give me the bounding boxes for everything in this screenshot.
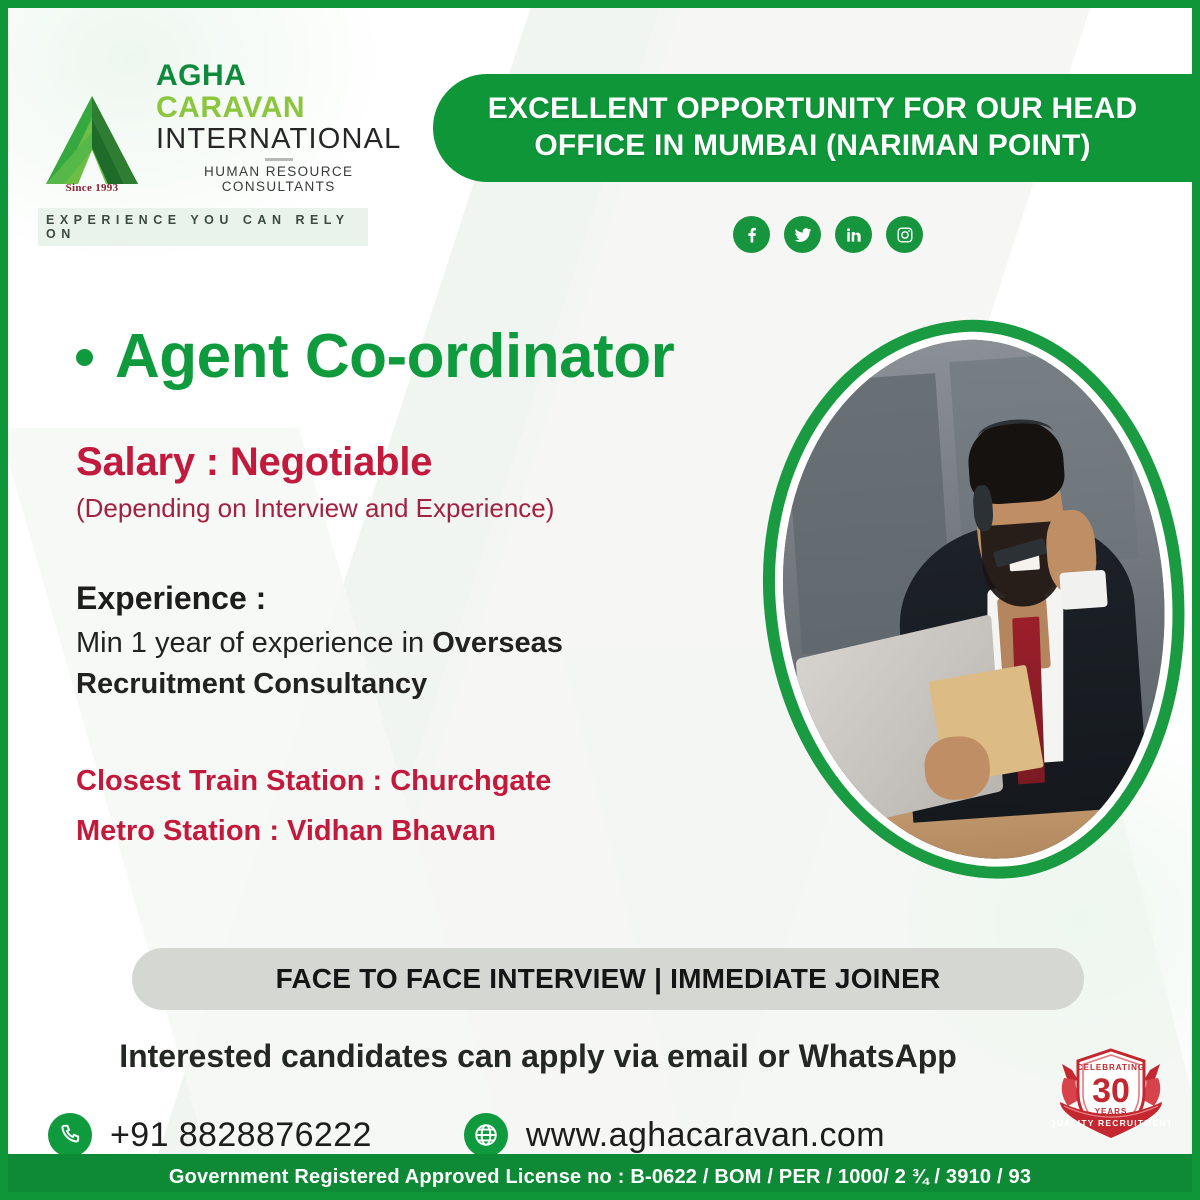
license-text: Government Registered Approved License n…	[169, 1166, 1031, 1189]
logo-line-1: AGHA CARAVAN	[156, 60, 401, 123]
headline-banner-text: EXCELLENT OPPORTUNITY FOR OUR HEAD OFFIC…	[473, 91, 1152, 164]
website-url: www.aghacaravan.com	[526, 1116, 885, 1155]
headline-banner: EXCELLENT OPPORTUNITY FOR OUR HEAD OFFIC…	[433, 74, 1200, 182]
logo-divider	[265, 158, 293, 161]
globe-icon	[464, 1113, 508, 1157]
job-title: Agent Co-ordinator	[115, 326, 674, 388]
phone-icon	[48, 1113, 92, 1157]
job-poster: Since 1993 AGHA CARAVAN INTERNATIONAL HU…	[0, 0, 1200, 1200]
logo-line-2: INTERNATIONAL	[156, 123, 401, 155]
svg-text:30: 30	[1092, 1072, 1130, 1110]
twitter-icon[interactable]	[784, 216, 821, 253]
website-contact[interactable]: www.aghacaravan.com	[464, 1113, 885, 1157]
poster-header: Since 1993 AGHA CARAVAN INTERNATIONAL HU…	[8, 8, 1192, 208]
experience-heading: Experience :	[76, 580, 796, 617]
train-station-line: Closest Train Station : Churchgate	[76, 757, 796, 807]
logo-line-3: HUMAN RESOURCE CONSULTANTS	[156, 164, 401, 194]
linkedin-icon[interactable]	[835, 216, 872, 253]
social-links[interactable]	[733, 216, 923, 253]
job-details: Agent Co-ordinator Salary : Negotiable (…	[76, 326, 796, 857]
phone-contact[interactable]: +91 8828876222	[48, 1113, 372, 1157]
svg-text:QUALITY RECRUITMENT: QUALITY RECRUITMENT	[1052, 1118, 1170, 1128]
anniversary-shield-badge-icon: CELEBRATING 30 YEARS QUALITY RECRUITMENT	[1052, 1040, 1170, 1158]
station-info: Closest Train Station : Churchgate Metro…	[76, 757, 796, 857]
triangle-a-logo-icon: Since 1993	[38, 88, 146, 200]
logo-word-agha: AGHA	[156, 59, 245, 92]
salary-note: (Depending on Interview and Experience)	[76, 493, 796, 524]
facebook-icon[interactable]	[733, 216, 770, 253]
instagram-icon[interactable]	[886, 216, 923, 253]
experience-text-plain: Min 1 year of experience in	[76, 627, 432, 659]
since-badge: Since 1993	[66, 182, 119, 194]
license-footer: Government Registered Approved License n…	[0, 1154, 1200, 1200]
job-title-row: Agent Co-ordinator	[76, 326, 796, 388]
company-tagline: EXPERIENCE YOU CAN RELY ON	[38, 208, 368, 246]
experience-text: Min 1 year of experience in Overseas Rec…	[76, 623, 716, 705]
interview-banner: FACE TO FACE INTERVIEW | IMMEDIATE JOINE…	[132, 948, 1084, 1010]
photo-image	[766, 327, 1181, 872]
call-center-agent-photo	[764, 320, 1184, 880]
bullet-icon	[76, 349, 93, 366]
salary-label: Salary : Negotiable	[76, 440, 796, 485]
company-logo: Since 1993 AGHA CARAVAN INTERNATIONAL HU…	[38, 60, 398, 246]
interview-banner-text: FACE TO FACE INTERVIEW | IMMEDIATE JOINE…	[276, 963, 941, 995]
logo-word-caravan: CARAVAN	[156, 91, 305, 124]
logo-wordmark: AGHA CARAVAN INTERNATIONAL HUMAN RESOURC…	[156, 60, 401, 200]
phone-number: +91 8828876222	[110, 1116, 372, 1155]
apply-instruction: Interested candidates can apply via emai…	[8, 1038, 1068, 1075]
svg-text:CELEBRATING: CELEBRATING	[1077, 1063, 1145, 1072]
metro-station-line: Metro Station : Vidhan Bhavan	[76, 807, 796, 857]
